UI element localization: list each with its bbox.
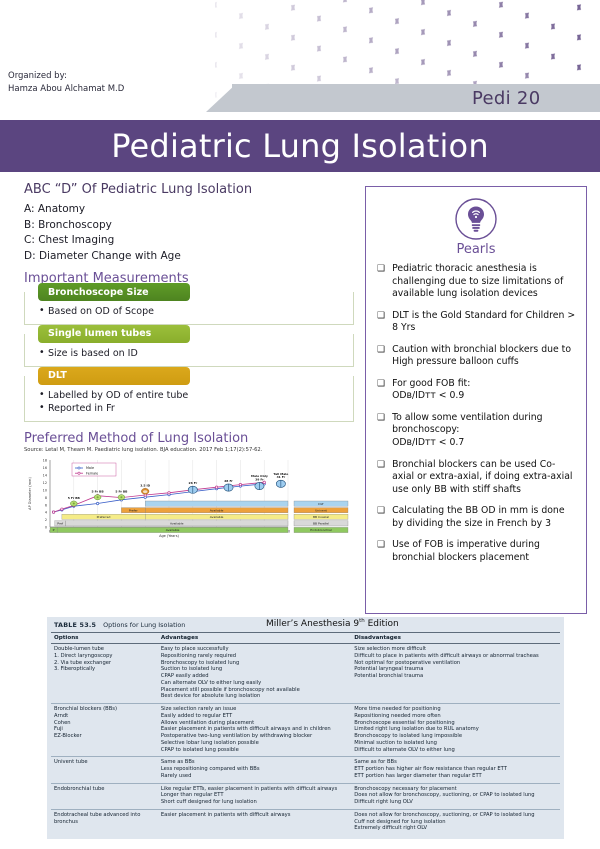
cell-line: Less repositioning compared with BBs xyxy=(161,766,348,773)
y-tick-label: 16 xyxy=(43,466,47,470)
abc-item: C: Chest Imaging xyxy=(24,233,354,249)
band-legend-label: BB Coaxial xyxy=(313,515,329,519)
cell-options: Endobronchial tube xyxy=(51,783,158,809)
cell-line: Suction to isolated lung xyxy=(161,666,348,673)
cell-line: Arndt xyxy=(54,713,155,720)
cell-line: Extremely difficult right OLV xyxy=(354,825,557,832)
pearls-title: Pearls xyxy=(375,242,577,257)
cell-line: Difficult to place in patients with diff… xyxy=(354,653,557,660)
cell-line: Easier placement in patients with diffic… xyxy=(161,812,348,819)
checkbox-icon: ❑ xyxy=(377,539,385,564)
pearl-text: Bronchial blockers can be used Co-axial … xyxy=(392,459,577,497)
box-bullet: Reported in Fr xyxy=(39,402,345,416)
box-title: DLT xyxy=(38,367,190,385)
measurement-box-bronchoscope: Bronchoscope Size Based on OD of Scope xyxy=(24,292,354,325)
table-number: TABLE 53.5 xyxy=(54,621,96,629)
marker-bb-lumen xyxy=(73,503,75,505)
y-tick-label: 14 xyxy=(43,474,47,478)
marker-label: 28 Fr xyxy=(224,479,233,483)
chart-heading: Preferred Method of Lung Isolation xyxy=(24,431,354,446)
y-tick-label: 10 xyxy=(43,489,47,493)
marker-univent-lumen xyxy=(143,490,147,493)
pearl-item: ❑To allow some ventilation during bronch… xyxy=(375,412,577,450)
cell-line: 1. Direct laryngoscopy xyxy=(54,653,155,660)
marker-note: Tall Male xyxy=(273,472,288,476)
cell-line: Best device for absolute lung isolation xyxy=(161,693,348,700)
cell-line: Difficult right lung OLV xyxy=(354,799,557,806)
pearl-text: DLT is the Gold Standard for Children > … xyxy=(392,310,577,335)
pearl-text: Use of FOB is imperative during bronchia… xyxy=(392,539,577,564)
pearl-text: To allow some ventilation during broncho… xyxy=(392,412,577,450)
box-bullet: Based on OD of Scope xyxy=(39,305,345,319)
cell-disadvantages: More time needed for positioningRepositi… xyxy=(351,704,560,757)
cell-line: Bronchoscopy to isolated lung xyxy=(161,660,348,667)
cell-line: Rarely used xyxy=(161,773,348,780)
marker-bb-lumen xyxy=(97,496,99,498)
cell-options: Univent tube xyxy=(51,757,158,783)
series-point xyxy=(96,503,98,505)
cell-line: CPAP to isolated lung possible xyxy=(161,747,348,754)
table-row: Endotracheal tube advanced into bronchus… xyxy=(51,809,560,835)
cell-line: Same as BBs xyxy=(161,759,348,766)
pearl-item: ❑Calculating the BB OD in mm is done by … xyxy=(375,505,577,530)
band-legend-label: Univent xyxy=(315,509,327,513)
abc-heading: ABC “D” Of Pediatric Lung Isolation xyxy=(24,182,354,197)
cell-line: CPAP easily added xyxy=(161,673,348,680)
series-point xyxy=(215,486,217,488)
cell-line: Repositioning needed more often xyxy=(354,713,557,720)
legend-label: Female xyxy=(86,472,98,476)
chart-source-citation: Source: Letal M, Theam M. Paediatric lun… xyxy=(24,447,354,453)
y-tick-label: 6 xyxy=(45,503,47,507)
cell-options: Bronchial blockers (BBs)ArndtCohenFujiEZ… xyxy=(51,704,158,757)
organizer-block: Organized by: Hamza Abou Alchamat M.D xyxy=(8,70,124,96)
cell-line: Easy to place successfully xyxy=(161,646,348,653)
pearl-item: ❑For good FOB fit:ODʙ/IDᴛᴛ < 0.9 xyxy=(375,378,577,403)
cell-line: Postoperative two-lung ventilation by wi… xyxy=(161,733,348,740)
poster-header: Organized by: Hamza Abou Alchamat M.D Pe… xyxy=(0,0,600,120)
cell-line: More time needed for positioning xyxy=(354,706,557,713)
availability-segment xyxy=(145,501,288,506)
table-row: Bronchial blockers (BBs)ArndtCohenFujiEZ… xyxy=(51,704,560,757)
attribution-tail: Edition xyxy=(365,619,399,629)
y-tick-label: 4 xyxy=(45,511,47,515)
cell-line: Easier placement in patients with diffic… xyxy=(161,726,348,733)
cell-line: Bronchoscopy necessary for placement xyxy=(354,786,557,793)
abc-list: A: Anatomy B: Bronchoscopy C: Chest Imag… xyxy=(24,202,354,264)
table-row: Double-lumen tube1. Direct laryngoscopy2… xyxy=(51,644,560,704)
cell-line: Bronchoscopy to isolated lung impossible xyxy=(354,733,557,740)
title-bar: Pediatric Lung Isolation xyxy=(0,120,600,172)
cell-line: Bronchoscope essential for positioning xyxy=(354,720,557,727)
marker-label: 5 Fr BB xyxy=(68,496,81,500)
cell-disadvantages: Bronchoscopy necessary for placementDoes… xyxy=(351,783,560,809)
table-row: Endobronchial tubeLike regular ETTs, eas… xyxy=(51,783,560,809)
pedi-badge: Pedi 20 xyxy=(472,88,540,109)
cell-line: ETT portion has larger diameter than reg… xyxy=(354,773,557,780)
marker-label: 5 Fr BB xyxy=(115,490,128,494)
cell-line: Selective lobar lung isolation possible xyxy=(161,740,348,747)
cell-line: Cohen xyxy=(54,720,155,727)
cell-line: Does not allow for bronchoscopy, suction… xyxy=(354,812,557,819)
segment-label: Available xyxy=(210,509,224,513)
column-header-disadvantages: Disadvantages xyxy=(351,633,560,644)
pearls-icon-wrap xyxy=(375,197,577,241)
band-legend-label: DLT xyxy=(318,502,324,506)
pearl-text: For good FOB fit:ODʙ/IDᴛᴛ < 0.9 xyxy=(392,378,577,403)
series-point xyxy=(168,492,170,494)
series-point xyxy=(61,508,63,510)
cell-line: Same as for BBs xyxy=(354,759,557,766)
header-gray-band xyxy=(232,84,600,112)
pearl-text: Calculating the BB OD in mm is done by d… xyxy=(392,505,577,530)
table-attribution: Miller’s Anesthesia 9th Edition xyxy=(266,618,399,629)
cell-line: Difficult to alternate OLV to either lun… xyxy=(354,747,557,754)
y-axis-label: AP Diameter (mm) xyxy=(28,477,32,510)
marker-note: Male Only xyxy=(251,474,268,478)
abc-item: D: Diameter Change with Age xyxy=(24,249,354,265)
table-header-row: Options Advantages Disadvantages xyxy=(51,633,560,644)
attribution-main: Miller’s Anesthesia 9 xyxy=(266,619,359,629)
segment-label: Available xyxy=(210,515,224,519)
box-bullet: Size is based on ID xyxy=(39,347,345,361)
cell-line: Placement still possible if bronchoscopy… xyxy=(161,687,348,694)
pearls-list: ❑Pediatric thoracic anesthesia is challe… xyxy=(375,263,577,564)
box-title: Bronchoscope Size xyxy=(38,283,190,301)
x-axis-label: Age (Years) xyxy=(159,534,179,538)
legend-marker xyxy=(78,472,80,474)
pearl-item: ❑Bronchial blockers can be used Co-axial… xyxy=(375,459,577,497)
cell-disadvantages: Same as for BBsETT portion has higher ai… xyxy=(351,757,560,783)
cell-line: Limited right lung isolation due to RUL … xyxy=(354,726,557,733)
series-point xyxy=(52,511,54,513)
column-header-options: Options xyxy=(51,633,158,644)
checkbox-icon: ❑ xyxy=(377,459,385,497)
abc-item: B: Bronchoscopy xyxy=(24,218,354,234)
cell-line: 2. Via tube exchanger xyxy=(54,660,155,667)
cell-disadvantages: Does not allow for bronchoscopy, suction… xyxy=(351,809,560,835)
cell-line: Potential bronchial trauma xyxy=(354,673,557,680)
cell-line: Endobronchial tube xyxy=(54,786,155,793)
checkbox-icon: ❑ xyxy=(377,263,385,301)
pearl-text: Pediatric thoracic anesthesia is challen… xyxy=(392,263,577,301)
cell-line: ETT portion has higher air flow resistan… xyxy=(354,766,557,773)
poster-page: Organized by: Hamza Abou Alchamat M.D Pe… xyxy=(0,0,600,849)
cell-advantages: Easier placement in patients with diffic… xyxy=(158,809,351,835)
segment-label: Preferred xyxy=(97,515,111,519)
cell-options: Double-lumen tube1. Direct laryngoscopy2… xyxy=(51,644,158,704)
cell-line: Minimal suction to isolated lung xyxy=(354,740,557,747)
cell-options: Endotracheal tube advanced into bronchus xyxy=(51,809,158,835)
checkbox-icon: ❑ xyxy=(377,412,385,450)
cell-advantages: Easy to place successfullyRepositioning … xyxy=(158,644,351,704)
checkbox-icon: ❑ xyxy=(377,378,385,403)
box-title: Single lumen tubes xyxy=(38,325,190,343)
measurement-box-single-lumen: Single lumen tubes Size is based on ID xyxy=(24,334,354,367)
cell-line: Like regular ETTs, easier placement in p… xyxy=(161,786,348,793)
cell-line: EZ-Blocker xyxy=(54,733,155,740)
series-point xyxy=(239,484,241,486)
pearl-item: ❑Use of FOB is imperative during bronchi… xyxy=(375,539,577,564)
checkbox-icon: ❑ xyxy=(377,344,385,369)
cell-line: Does not allow for bronchoscopy, suction… xyxy=(354,792,557,799)
y-tick-label: 0 xyxy=(45,526,47,530)
box-bullet: Labelled by OD of entire tube xyxy=(39,389,345,403)
cell-line: Easily added to regular ETT xyxy=(161,713,348,720)
options-table: Options Advantages Disadvantages Double-… xyxy=(51,632,560,835)
segment-label: P xyxy=(53,528,55,532)
organized-by-label: Organized by: xyxy=(8,70,124,83)
cell-line: Size selection more difficult xyxy=(354,646,557,653)
segment-label: Available xyxy=(170,522,184,526)
abc-item: A: Anatomy xyxy=(24,202,354,218)
cell-line: Fuji xyxy=(54,726,155,733)
options-table-panel: TABLE 53.5 Options for Lung Isolation Mi… xyxy=(47,617,564,839)
marker-label: 3.5 ID xyxy=(140,484,150,488)
column-header-advantages: Advantages xyxy=(158,633,351,644)
segment-label: Available xyxy=(166,528,180,532)
table-caption: TABLE 53.5 Options for Lung Isolation Mi… xyxy=(51,620,560,632)
cell-line: Univent tube xyxy=(54,759,155,766)
measurement-box-dlt: DLT Labelled by OD of entire tube Report… xyxy=(24,376,354,423)
cell-line: Bronchial blockers (BBs) xyxy=(54,706,155,713)
pearls-panel: Pearls ❑Pediatric thoracic anesthesia is… xyxy=(365,186,587,614)
cell-line: Repositioning rarely required xyxy=(161,653,348,660)
cell-line: Double-lumen tube xyxy=(54,646,155,653)
cell-line: Endotracheal tube advanced into bronchus xyxy=(54,812,155,826)
organizer-name: Hamza Abou Alchamat M.D xyxy=(8,83,124,96)
band-legend-label: Endobronchial xyxy=(310,528,332,532)
y-tick-label: 12 xyxy=(43,481,47,485)
pearl-text: Caution with bronchial blockers due to H… xyxy=(392,344,577,369)
legend-label: Male xyxy=(86,466,94,470)
cell-line: Not optimal for postoperative ventilatio… xyxy=(354,660,557,667)
cell-advantages: Same as BBsLess repositioning compared w… xyxy=(158,757,351,783)
segment-label: Prefer xyxy=(129,509,139,513)
pearl-item: ❑Caution with bronchial blockers due to … xyxy=(375,344,577,369)
marker-label: 5 Fr BB xyxy=(92,490,105,494)
cell-line: Can alternate OLV to either lung easily xyxy=(161,680,348,687)
pearl-item: ❑Pediatric thoracic anesthesia is challe… xyxy=(375,263,577,301)
y-tick-label: 18 xyxy=(43,459,47,463)
series-point xyxy=(263,481,265,483)
table-caption-text: Options for Lung Isolation xyxy=(103,621,185,629)
lightbulb-icon xyxy=(454,197,498,241)
cell-line: Cuff not designed for lung isolation xyxy=(354,819,557,826)
cell-advantages: Like regular ETTs, easier placement in p… xyxy=(158,783,351,809)
left-column: ABC “D” Of Pediatric Lung Isolation A: A… xyxy=(24,182,354,575)
checkbox-icon: ❑ xyxy=(377,310,385,335)
y-tick-label: 8 xyxy=(45,496,47,500)
cell-line: Potential laryngeal trauma xyxy=(354,666,557,673)
page-title: Pediatric Lung Isolation xyxy=(111,127,489,165)
cell-line: Longer than regular ETT xyxy=(161,792,348,799)
legend-marker xyxy=(78,467,80,469)
y-tick-label: 2 xyxy=(45,518,47,522)
cell-line: Short cuff designed for lung isolation xyxy=(161,799,348,806)
checkbox-icon: ❑ xyxy=(377,505,385,530)
segment-label: Pref xyxy=(57,522,64,526)
cell-advantages: Size selection rarely an issueEasily add… xyxy=(158,704,351,757)
band-legend-label: BB Parallel xyxy=(313,522,329,526)
marker-bb-lumen xyxy=(120,496,122,498)
table-row: Univent tubeSame as BBsLess repositionin… xyxy=(51,757,560,783)
marker-label: 26 Fr xyxy=(189,481,198,485)
cell-disadvantages: Size selection more difficultDifficult t… xyxy=(351,644,560,704)
lung-isolation-chart: 02468101214161802468101214161820AP Diame… xyxy=(24,455,354,575)
cell-line: Allows ventilation during placement xyxy=(161,720,348,727)
pearl-item: ❑DLT is the Gold Standard for Children >… xyxy=(375,310,577,335)
cell-line: Size selection rarely an issue xyxy=(161,706,348,713)
measurement-boxes: Bronchoscope Size Based on OD of Scope S… xyxy=(24,292,354,422)
cell-line: 3. Fiberoptically xyxy=(54,666,155,673)
